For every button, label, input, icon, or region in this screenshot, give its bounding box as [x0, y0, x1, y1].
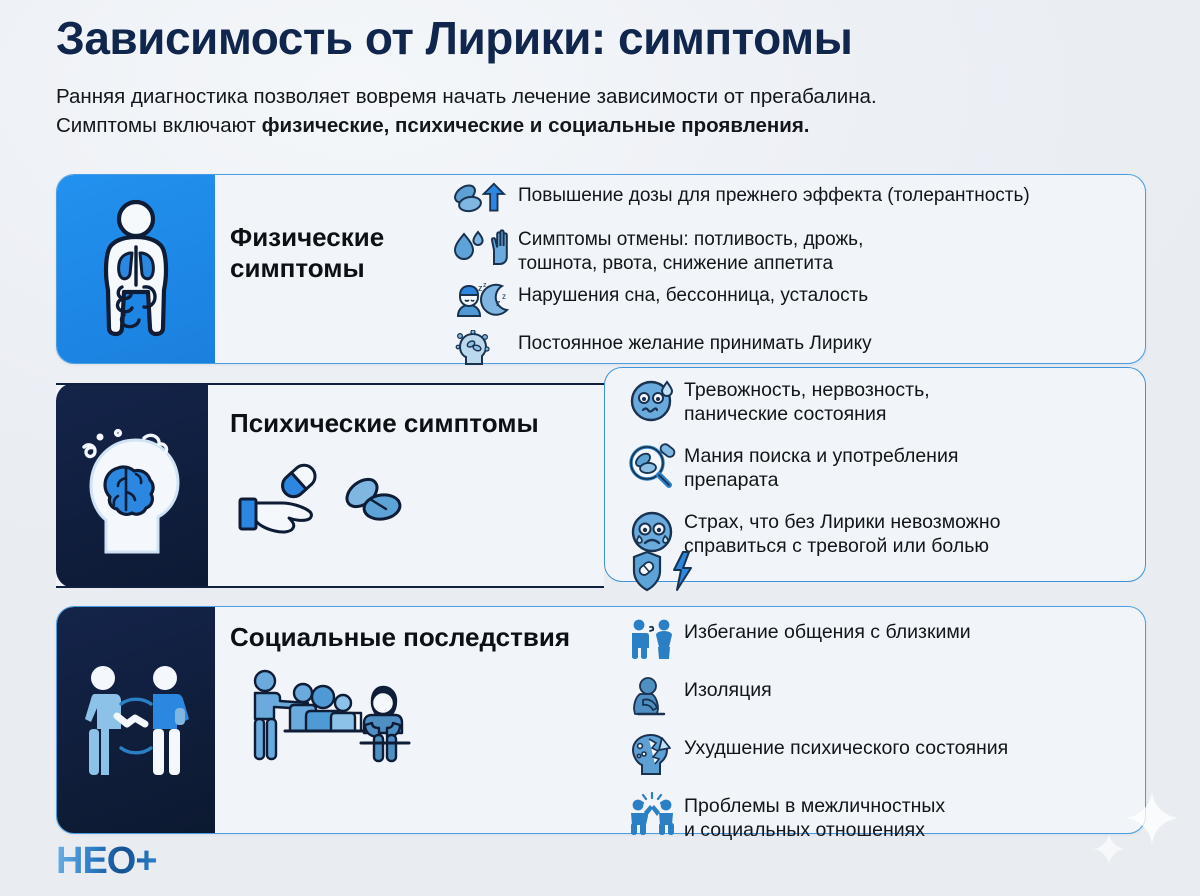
sweat-drops-trembling-hand-icon	[452, 226, 510, 273]
list-item: Постоянное желание принимать Лирику	[452, 330, 1146, 371]
anxious-sweating-face-icon	[628, 376, 676, 429]
group-isolation-scene-icon	[243, 665, 453, 770]
mental-symptom-list: Тревожность, нервозность, панические сос…	[628, 376, 1140, 574]
list-item-label: Избегание общения с близкими	[684, 618, 971, 644]
list-item-label: Симптомы отмены: потливость, дрожь, тошн…	[518, 226, 863, 275]
card-social-side-panel	[57, 607, 215, 833]
subtitle-line-2-plain: Симптомы включают	[56, 114, 262, 137]
svg-text:z: z	[502, 292, 506, 301]
sitting-alone-icon	[628, 676, 676, 723]
logo-text: НЕО+	[56, 840, 157, 882]
hand-offering-pills-icon	[238, 455, 448, 546]
list-item: Ухудшение психического состояния	[628, 734, 1140, 781]
list-item-label: Изоляция	[684, 676, 772, 702]
craving-head-icon	[452, 330, 510, 371]
header: Зависимость от Лирики: симптомы Ранняя д…	[56, 14, 1156, 141]
page-title: Зависимость от Лирики: симптомы	[56, 14, 1156, 62]
list-item: Проблемы в межличностных и социальных от…	[628, 792, 1140, 842]
lightning-bolt-icon	[674, 552, 691, 590]
list-item-label: Тревожность, нервозность, панические сос…	[684, 376, 930, 426]
infographic-page: Зависимость от Лирики: симптомы Ранняя д…	[0, 0, 1200, 896]
list-item-label: Мания поиска и употребления препарата	[684, 442, 958, 492]
brand-logo: НЕО+	[56, 842, 157, 880]
two-people-handshake-icon	[77, 660, 195, 780]
magnifier-pills-search-icon	[628, 442, 676, 495]
list-item-label: Ухудшение психического состояния	[684, 734, 1008, 760]
list-item-label: Повышение дозы для прежнего эффекта (тол…	[518, 182, 1030, 208]
card-mental-side-panel	[56, 383, 208, 588]
list-item-label: Страх, что без Лирики невозможно справит…	[684, 508, 1000, 558]
list-item: Мания поиска и употребления препарата	[628, 442, 1140, 495]
cracked-head-icon	[628, 734, 676, 781]
human-body-organs-icon	[84, 195, 188, 343]
list-item-label: Постоянное желание принимать Лирику	[518, 330, 872, 356]
two-persons-avoidance-icon	[628, 618, 676, 665]
list-item: z z z z Нарушения сна, бессонница, устал…	[452, 282, 1146, 323]
card-mental-heading: Психические симптомы	[230, 408, 539, 439]
sleepy-face-moon-icon: z z z z	[452, 282, 510, 323]
card-physical-heading: Физические симптомы	[230, 222, 440, 283]
physical-symptom-list: Повышение дозы для прежнего эффекта (тол…	[452, 182, 1146, 378]
shield-and-lightning-group	[631, 550, 705, 597]
head-with-brain-icon	[76, 416, 188, 556]
list-item-label: Проблемы в межличностных и социальных от…	[684, 792, 945, 842]
card-physical-side-panel	[57, 175, 215, 363]
list-item: Изоляция	[628, 676, 1140, 723]
svg-text:z: z	[496, 298, 501, 308]
shield-pill-icon	[634, 552, 660, 590]
conflict-two-persons-icon	[628, 792, 676, 841]
subtitle-line-1: Ранняя диагностика позволяет вовремя нач…	[56, 85, 877, 108]
pills-up-arrow-icon	[452, 182, 510, 219]
list-item: Повышение дозы для прежнего эффекта (тол…	[452, 182, 1146, 219]
list-item-label: Нарушения сна, бессонница, усталость	[518, 282, 868, 308]
card-social-heading: Социальные последствия	[230, 622, 570, 653]
list-item: Тревожность, нервозность, панические сос…	[628, 376, 1140, 429]
list-item: Избегание общения с близкими	[628, 618, 1140, 665]
list-item: Симптомы отмены: потливость, дрожь, тошн…	[452, 226, 1146, 275]
subtitle-line-2-bold: физические, психические и социальные про…	[262, 114, 810, 137]
social-consequence-list: Избегание общения с близкими Изоляция	[628, 618, 1140, 853]
page-subtitle: Ранняя диагностика позволяет вовремя нач…	[56, 82, 1146, 140]
